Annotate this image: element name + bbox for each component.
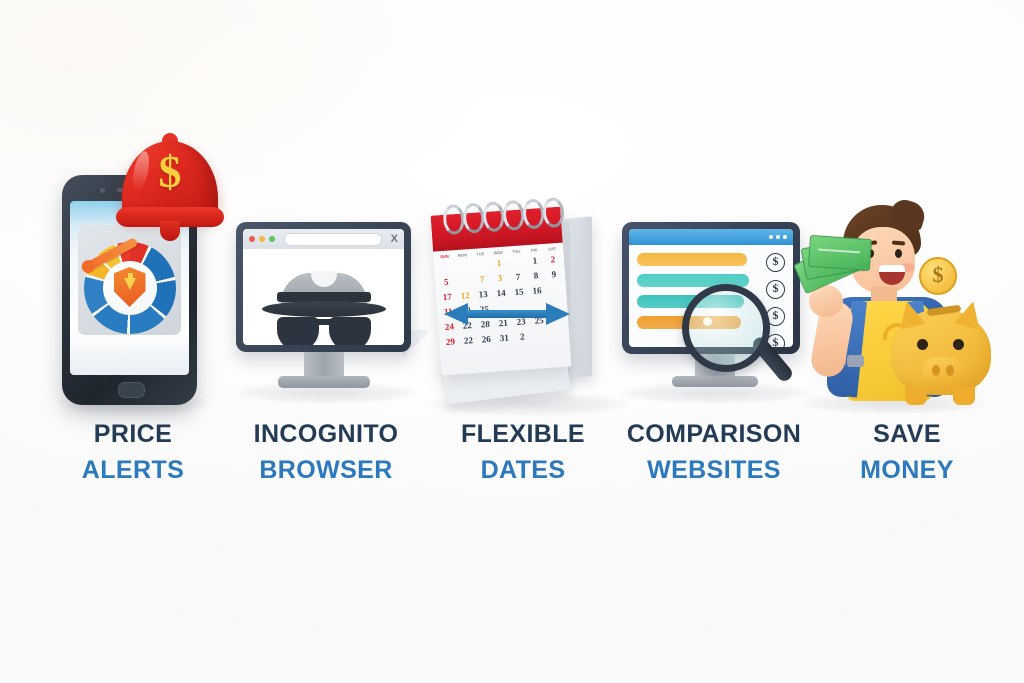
monitor-screen: X bbox=[243, 229, 404, 345]
monitor-frame: X bbox=[236, 222, 411, 352]
monitor-neck bbox=[304, 352, 344, 378]
label-save-money: SAVE MONEY bbox=[818, 421, 996, 483]
bell-clapper bbox=[160, 221, 180, 241]
label-line2: WEBSITES bbox=[616, 457, 812, 484]
backpack-buckle bbox=[847, 355, 864, 367]
calendar-day-cell[interactable] bbox=[549, 326, 568, 342]
hat-brim bbox=[262, 301, 386, 317]
label-line1: INCOGNITO bbox=[228, 421, 424, 448]
magnifying-glass-icon bbox=[682, 284, 770, 372]
comparison-title-bar bbox=[629, 229, 793, 245]
calendar-spiral-binding bbox=[439, 197, 569, 232]
hat-dent bbox=[311, 271, 337, 287]
label-price-alerts: PRICE ALERTS bbox=[40, 421, 226, 483]
window-minimize-dot-icon[interactable] bbox=[259, 236, 265, 242]
monitor-comparison-icon: $$$$ bbox=[622, 222, 807, 407]
monitor-incognito-icon: X bbox=[236, 222, 411, 402]
calendar-day-cell[interactable]: 8 bbox=[526, 267, 545, 283]
flexible-dates-arrow-icon bbox=[444, 303, 570, 325]
piggy-eye-right bbox=[953, 339, 964, 350]
monitor-base bbox=[278, 376, 370, 388]
calendar-weeks: 1125737891712131415161118252422282123252… bbox=[436, 251, 568, 350]
alert-bell-icon: $ bbox=[116, 133, 224, 229]
piggy-bank-icon bbox=[891, 309, 991, 395]
calendar-day-cell[interactable] bbox=[454, 257, 473, 273]
label-comparison-websites: COMPARISON WEBSITES bbox=[616, 421, 812, 483]
piggy-leg-right bbox=[953, 387, 975, 405]
lens-right bbox=[329, 317, 371, 345]
lens-left bbox=[277, 317, 319, 345]
label-line1: PRICE bbox=[40, 421, 226, 448]
down-arrow-icon bbox=[124, 278, 136, 290]
calendar-day-cell[interactable]: 2 bbox=[513, 328, 532, 344]
window-close-dot-icon[interactable] bbox=[249, 236, 255, 242]
calendar-day-cell[interactable]: 12 bbox=[456, 287, 475, 303]
label-incognito-browser: INCOGNITO BROWSER bbox=[228, 421, 424, 483]
calendar-day-cell[interactable]: 13 bbox=[474, 286, 493, 302]
gold-coin-icon: $ bbox=[919, 257, 957, 295]
arrow-head-right bbox=[546, 303, 570, 325]
piggy-nostril-left bbox=[932, 365, 940, 376]
arrow-head-left bbox=[444, 303, 468, 325]
calendar-day-cell[interactable]: 16 bbox=[528, 282, 547, 298]
calendar-day-cell[interactable] bbox=[436, 258, 455, 274]
banknote-line bbox=[818, 248, 860, 253]
label-line1: SAVE bbox=[818, 421, 996, 448]
comparison-monitor-base bbox=[672, 376, 758, 387]
calendar-day-cell[interactable]: 5 bbox=[437, 273, 456, 289]
calendar-day-cell[interactable]: 1 bbox=[490, 254, 509, 270]
calendar-day-cell[interactable]: 26 bbox=[477, 331, 496, 347]
piggy-snout bbox=[923, 357, 963, 384]
address-bar-input[interactable] bbox=[284, 233, 382, 246]
calendar-day-cell[interactable] bbox=[472, 256, 491, 272]
label-line2: MONEY bbox=[818, 457, 996, 484]
calendar-day-cell[interactable]: 15 bbox=[510, 283, 529, 299]
price-coin-icon: $ bbox=[766, 253, 785, 272]
magnifier-highlight bbox=[703, 317, 712, 326]
step-labels: PRICE ALERTS INCOGNITO BROWSER FLEXIBLE … bbox=[0, 421, 1024, 501]
calendar-day-cell[interactable] bbox=[545, 281, 564, 297]
close-icon[interactable]: X bbox=[391, 234, 398, 245]
menu-dot-icon bbox=[783, 235, 787, 239]
phone-home-button[interactable] bbox=[118, 382, 145, 398]
desk-calendar-icon: SUN MON TUE WED THU FRI SAT 112573789171… bbox=[430, 203, 630, 403]
dollar-sign-icon: $ bbox=[116, 145, 224, 198]
calendar-day-cell[interactable]: 29 bbox=[441, 333, 460, 349]
calendar-day-cell[interactable]: 1 bbox=[525, 252, 544, 268]
calendar-day-cell[interactable]: 9 bbox=[544, 266, 563, 282]
label-line1: COMPARISON bbox=[616, 421, 812, 448]
calendar-day-cell[interactable]: 3 bbox=[491, 269, 510, 285]
calendar-day-cell[interactable] bbox=[455, 272, 474, 288]
piggy-leg-left bbox=[905, 387, 927, 405]
comparison-bar[interactable] bbox=[637, 253, 747, 266]
calendar-day-cell[interactable]: 7 bbox=[509, 268, 528, 284]
sunglasses-icon bbox=[277, 317, 371, 345]
window-maximize-dot-icon[interactable] bbox=[269, 236, 275, 242]
calendar-day-cell[interactable] bbox=[507, 253, 526, 269]
piggy-nostril-right bbox=[946, 365, 954, 376]
label-line2: DATES bbox=[428, 457, 618, 484]
arrow-bar bbox=[466, 310, 548, 318]
label-line2: ALERTS bbox=[40, 457, 226, 484]
calendar-day-cell[interactable]: 17 bbox=[438, 288, 457, 304]
label-line2: BROWSER bbox=[228, 457, 424, 484]
traveler-with-piggybank-icon: $ bbox=[795, 205, 990, 410]
calendar-day-cell[interactable] bbox=[531, 327, 550, 343]
infographic-canvas: $ X bbox=[0, 0, 1024, 683]
piggy-ear-right bbox=[954, 298, 986, 330]
browser-chrome: X bbox=[243, 229, 404, 249]
cash-bills-icon bbox=[797, 233, 871, 291]
price-coin-icon: $ bbox=[766, 280, 785, 299]
calendar-day-cell[interactable]: 7 bbox=[473, 271, 492, 287]
illustration-scene: $ X bbox=[0, 0, 1024, 683]
phone-camera bbox=[100, 188, 105, 193]
piggy-eye-left bbox=[917, 339, 928, 350]
banknote bbox=[808, 235, 872, 271]
label-line1: FLEXIBLE bbox=[428, 421, 618, 448]
menu-dot-icon bbox=[776, 235, 780, 239]
calendar-day-cell[interactable]: 2 bbox=[543, 251, 562, 267]
menu-dot-icon bbox=[769, 235, 773, 239]
eye-right bbox=[895, 249, 902, 258]
calendar-day-cell[interactable]: 14 bbox=[492, 284, 511, 300]
calendar-day-cell[interactable]: 22 bbox=[459, 332, 478, 348]
calendar-day-cell[interactable]: 31 bbox=[495, 329, 514, 345]
label-flexible-dates: FLEXIBLE DATES bbox=[428, 421, 618, 483]
